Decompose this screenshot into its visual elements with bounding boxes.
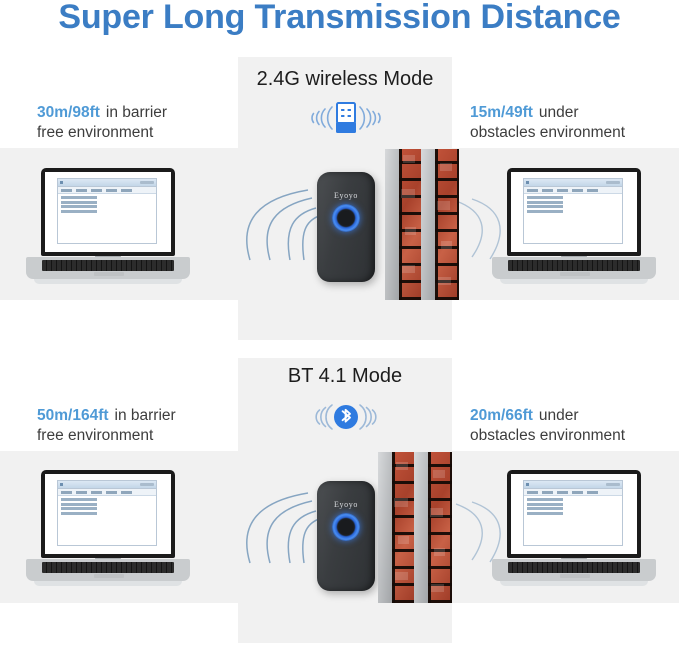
window-menu-bar	[58, 187, 156, 194]
laptop-foot	[500, 279, 648, 284]
window-title-bar	[58, 481, 156, 489]
window-menu-bar	[58, 489, 156, 496]
section-2-right-condition-2: obstacles environment	[470, 427, 625, 444]
section-1-right-condition-1: under	[539, 104, 579, 121]
barcode-scanner-1: Eyoyo	[317, 172, 375, 282]
laptop-screen	[511, 474, 637, 554]
brick-wall-1b	[421, 149, 459, 300]
scanned-rows	[61, 196, 97, 214]
window-title-bar	[524, 481, 622, 489]
scanned-rows	[527, 196, 563, 214]
wall-brick-face	[392, 452, 416, 603]
window-title-bar	[524, 179, 622, 187]
laptop-lid	[41, 470, 175, 558]
scanner-brand-label: Eyoyo	[317, 500, 375, 509]
laptop-keyboard	[508, 562, 640, 573]
laptop-foot	[500, 581, 648, 586]
section-2-right-distance-value: 20m/66ft	[470, 407, 533, 424]
section-2-left-distance-value: 50m/164ft	[37, 407, 109, 424]
scanner-brand-label: Eyoyo	[317, 191, 375, 200]
window-menu-bar	[524, 187, 622, 194]
section-2-center-extension	[238, 603, 452, 643]
laptop-trackpad	[94, 272, 124, 276]
laptop-trackpad	[560, 574, 590, 578]
barcode-scanner-2: Eyoyo	[317, 481, 375, 591]
laptop-keyboard	[42, 562, 174, 573]
section-1-left-condition-2: free environment	[37, 124, 153, 141]
section-2-left-condition-1: in barrier	[115, 407, 176, 424]
signal-waves-left-1	[190, 180, 320, 270]
laptop-foot	[34, 581, 182, 586]
scanned-data-window	[523, 178, 623, 244]
usb-dongle-icon	[292, 98, 400, 138]
section-2-left-condition-2: free environment	[37, 427, 153, 444]
page-title: Super Long Transmission Distance	[0, 0, 679, 37]
laptop-lid	[41, 168, 175, 256]
section-2-mode-label: BT 4.1 Mode	[225, 365, 465, 388]
scanner-button[interactable]	[332, 513, 360, 541]
brick-wall-1a	[385, 149, 423, 300]
window-content	[58, 496, 156, 546]
window-content	[58, 194, 156, 244]
laptop-right-1	[490, 168, 658, 288]
scanned-data-window	[523, 480, 623, 546]
scanner-button[interactable]	[332, 204, 360, 232]
section-1-left-distance-value: 30m/98ft	[37, 104, 100, 121]
laptop-lid	[507, 168, 641, 256]
scanned-data-window	[57, 480, 157, 546]
laptop-screen	[511, 172, 637, 252]
section-1-center-extension	[238, 300, 452, 340]
laptop-foot	[34, 279, 182, 284]
section-2-left-distance-label: 50m/164ftin barrier free environment	[37, 406, 176, 446]
scanned-rows	[61, 498, 97, 516]
wall-brick-face	[399, 149, 423, 300]
laptop-trackpad	[94, 574, 124, 578]
window-title-bar	[58, 179, 156, 187]
brick-wall-2a	[378, 452, 416, 603]
section-1-right-condition-2: obstacles environment	[470, 124, 625, 141]
section-1-left-distance-label: 30m/98ftin barrier free environment	[37, 103, 167, 143]
bluetooth-icon	[298, 398, 394, 436]
laptop-left-2	[24, 470, 192, 590]
scanned-data-window	[57, 178, 157, 244]
section-1-left-condition-1: in barrier	[106, 104, 167, 121]
signal-waves-left-2	[190, 483, 320, 573]
laptop-screen	[45, 474, 171, 554]
scanned-rows	[527, 498, 563, 516]
section-1-mode-label: 2.4G wireless Mode	[225, 68, 465, 91]
laptop-keyboard	[42, 260, 174, 271]
section-2-right-condition-1: under	[539, 407, 579, 424]
wall-brick-face	[428, 452, 452, 603]
wall-brick-face	[435, 149, 459, 300]
brick-wall-2b	[414, 452, 452, 603]
window-menu-bar	[524, 489, 622, 496]
laptop-right-2	[490, 470, 658, 590]
window-content	[524, 496, 622, 546]
laptop-left-1	[24, 168, 192, 288]
section-2-right-distance-label: 20m/66ftunder obstacles environment	[470, 406, 625, 446]
laptop-lid	[507, 470, 641, 558]
section-1-right-distance-label: 15m/49ftunder obstacles environment	[470, 103, 625, 143]
laptop-trackpad	[560, 272, 590, 276]
laptop-screen	[45, 172, 171, 252]
laptop-keyboard	[508, 260, 640, 271]
section-1-right-distance-value: 15m/49ft	[470, 104, 533, 121]
window-content	[524, 194, 622, 244]
